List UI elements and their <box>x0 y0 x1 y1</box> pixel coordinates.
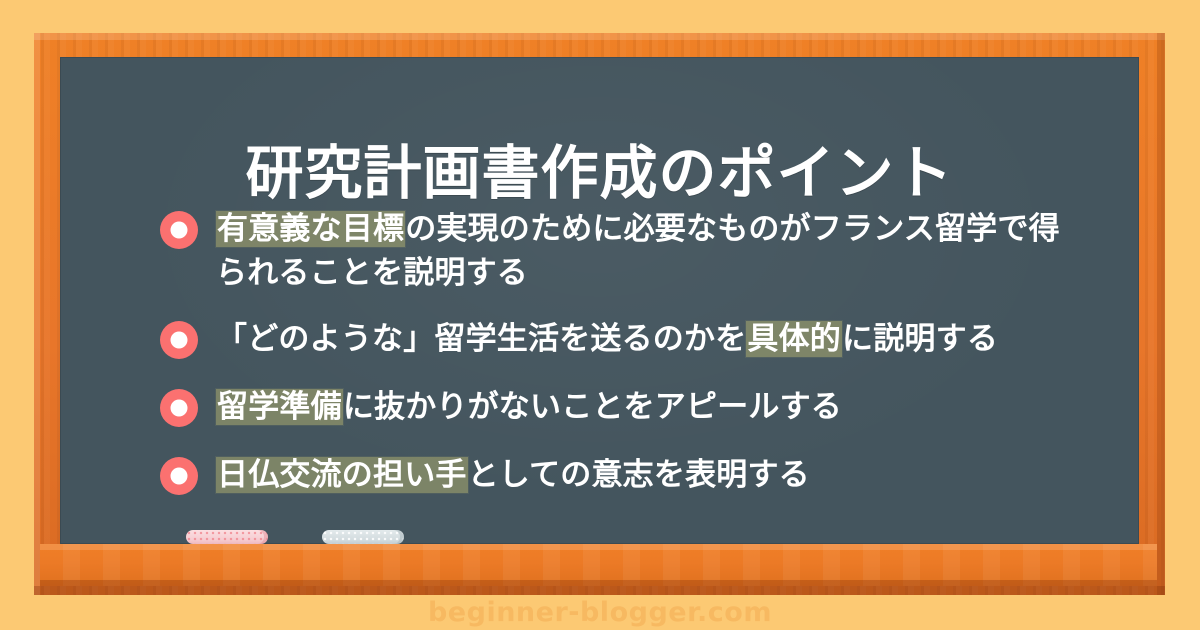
list-item-text: 「どのような」留学生活を送るのかを具体的に説明する <box>216 317 998 361</box>
chalk-tray <box>40 544 1157 586</box>
chalk-tray-shadow <box>40 580 1157 586</box>
bullet-dot-icon <box>160 389 198 427</box>
list-item-rest: に説明する <box>842 321 998 357</box>
list-item: 「どのような」留学生活を送るのかを具体的に説明する <box>160 317 1099 361</box>
highlighted-phrase: 有意義な目標 <box>216 211 405 247</box>
site-watermark: beginner-blogger.com <box>0 597 1200 628</box>
highlighted-phrase: 留学準備 <box>216 389 343 425</box>
frame-bevel-top <box>34 33 1165 40</box>
chalk-tray-lip <box>40 544 1157 550</box>
list-item-text: 日仏交流の担い手としての意志を表明する <box>216 453 810 497</box>
list-item-rest: に抜かりがないことをアピールする <box>343 389 842 425</box>
list-item: 有意義な目標の実現のために必要なものがフランス留学で得られることを説明する <box>160 207 1099 295</box>
list-item: 留学準備に抜かりがないことをアピールする <box>160 385 1099 429</box>
bullet-dot-icon <box>160 321 198 359</box>
list-item-rest: としての意志を表明する <box>468 457 810 493</box>
pink-chalk-icon <box>186 530 268 544</box>
highlighted-phrase: 具体的 <box>746 321 842 357</box>
blackboard-wooden-frame: 研究計画書作成のポイント 有意義な目標の実現のために必要なものがフランス留学で得… <box>34 33 1165 595</box>
list-item-text: 有意義な目標の実現のために必要なものがフランス留学で得られることを説明する <box>216 207 1076 295</box>
list-item-pre: 「どのような」留学生活を送るのかを <box>216 321 746 357</box>
highlighted-phrase: 日仏交流の担い手 <box>216 457 468 493</box>
bullet-list: 有意義な目標の実現のために必要なものがフランス留学で得られることを説明する 「ど… <box>160 207 1099 521</box>
frame-bevel-bottom <box>34 586 1165 595</box>
frame-bevel-left <box>34 33 40 595</box>
blackboard-surface: 研究計画書作成のポイント 有意義な目標の実現のために必要なものがフランス留学で得… <box>60 57 1139 544</box>
bullet-dot-icon <box>160 457 198 495</box>
white-chalk-icon <box>322 530 404 544</box>
list-item-text: 留学準備に抜かりがないことをアピールする <box>216 385 842 429</box>
poster-canvas: beginner-blogger.com 研究計画書作成のポイント 有意義な目標… <box>0 0 1200 630</box>
bullet-dot-icon <box>160 211 198 249</box>
list-item: 日仏交流の担い手としての意志を表明する <box>160 453 1099 497</box>
page-title: 研究計画書作成のポイント <box>60 142 1139 206</box>
frame-bevel-right <box>1157 33 1165 595</box>
